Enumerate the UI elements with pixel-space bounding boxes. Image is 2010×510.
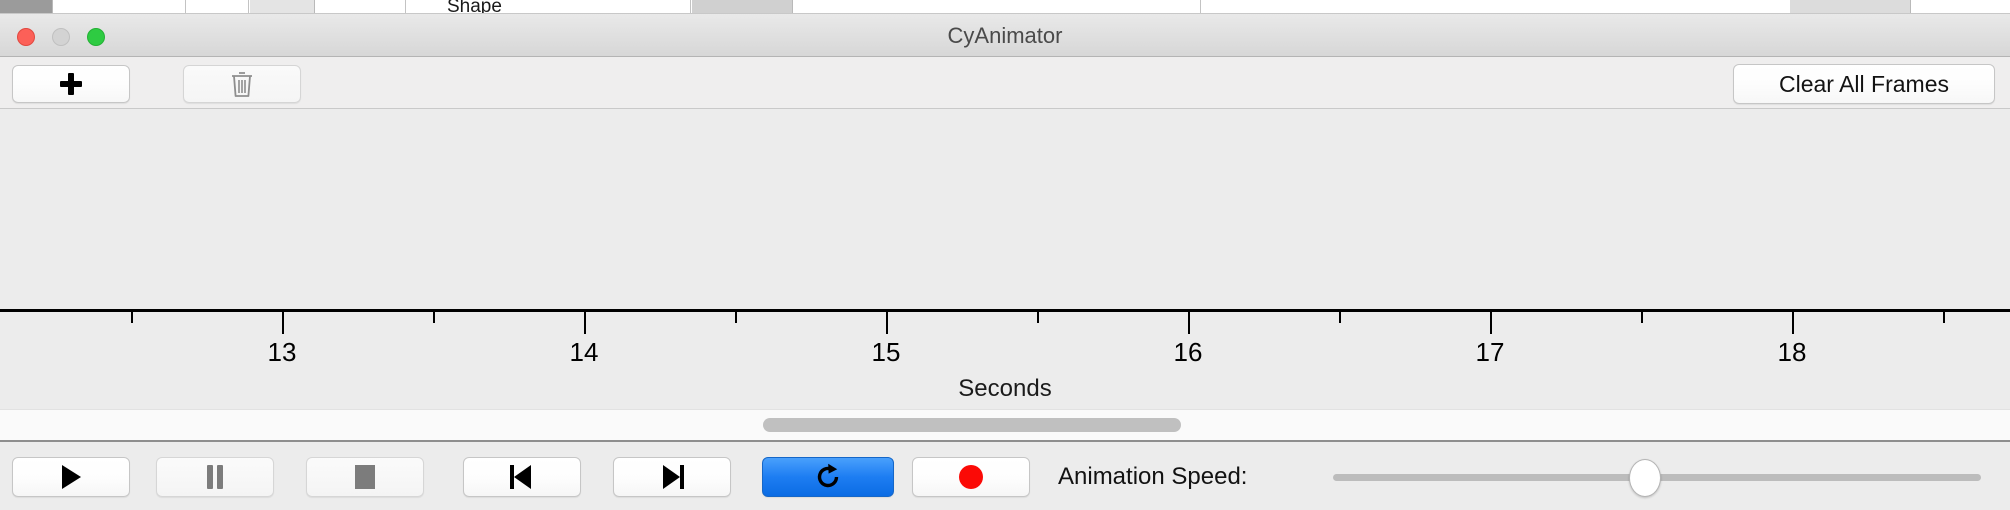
ruler-tick-label: 15 (872, 337, 901, 368)
skip-start-button[interactable] (463, 457, 581, 497)
cyanimator-window: Shape CyAnimator Clear All Frames MCM1MC… (0, 0, 2010, 510)
ruler-axis-line (0, 309, 2010, 312)
stop-icon (355, 465, 375, 489)
skip-back-icon (510, 465, 534, 489)
record-button[interactable] (912, 457, 1030, 497)
slider-thumb[interactable] (1629, 459, 1661, 497)
bg-divider (405, 0, 406, 14)
loop-button[interactable] (762, 457, 894, 497)
timeline-ruler: 2131415161718Seconds (0, 309, 2010, 409)
page-title: CyAnimator (0, 14, 2010, 57)
bg-tab (0, 0, 53, 14)
skip-end-button[interactable] (613, 457, 731, 497)
clear-all-frames-label: Clear All Frames (1779, 71, 1949, 98)
ruler-major-tick (1490, 312, 1492, 334)
bg-divider (248, 0, 249, 14)
record-icon (959, 465, 983, 489)
play-icon (62, 465, 81, 489)
horizontal-scrollbar[interactable] (0, 409, 2010, 442)
bg-tab (692, 0, 793, 14)
loop-icon (814, 463, 842, 491)
ruler-axis-label: Seconds (0, 375, 2010, 403)
ruler-major-tick (282, 312, 284, 334)
bg-divider (1200, 0, 1201, 14)
top-toolbar: Clear All Frames (0, 57, 2010, 109)
bg-tab (250, 0, 315, 14)
ruler-minor-tick (735, 312, 737, 323)
playback-toolbar: Animation Speed: (0, 444, 2010, 510)
delete-frame-button[interactable] (183, 65, 301, 103)
trash-icon (229, 70, 255, 98)
ruler-minor-tick (433, 312, 435, 323)
background-window-strip: Shape (0, 0, 2010, 14)
ruler-minor-tick (1943, 312, 1945, 323)
play-button[interactable] (12, 457, 130, 497)
clear-all-frames-button[interactable]: Clear All Frames (1733, 64, 1995, 104)
ruler-tick-label: 14 (570, 337, 599, 368)
skip-forward-icon (660, 465, 684, 489)
ruler-minor-tick (1037, 312, 1039, 323)
add-frame-button[interactable] (12, 65, 130, 103)
ruler-tick-label: 13 (268, 337, 297, 368)
bg-divider (185, 0, 186, 14)
pause-button[interactable] (156, 457, 274, 497)
stop-button[interactable] (306, 457, 424, 497)
ruler-tick-label: 16 (1174, 337, 1203, 368)
ruler-major-tick (886, 312, 888, 334)
bg-tab (1790, 0, 1911, 14)
bg-divider (690, 0, 691, 14)
animation-speed-slider[interactable] (1333, 457, 1981, 497)
ruler-tick-label: 17 (1476, 337, 1505, 368)
ruler-major-tick (1188, 312, 1190, 334)
timeline-track[interactable]: MCM1MCM1MCM1 (0, 109, 2010, 309)
pause-icon (206, 465, 224, 489)
ruler-minor-tick (1339, 312, 1341, 323)
title-bar: CyAnimator (0, 14, 2010, 57)
ruler-minor-tick (131, 312, 133, 323)
animation-speed-label: Animation Speed: (1058, 444, 1247, 510)
scrollbar-thumb[interactable] (763, 418, 1181, 432)
ruler-major-tick (584, 312, 586, 334)
plus-icon (59, 72, 83, 96)
ruler-minor-tick (1641, 312, 1643, 323)
ruler-major-tick (1792, 312, 1794, 334)
background-window-label: Shape (447, 0, 502, 14)
ruler-tick-label: 18 (1778, 337, 1807, 368)
